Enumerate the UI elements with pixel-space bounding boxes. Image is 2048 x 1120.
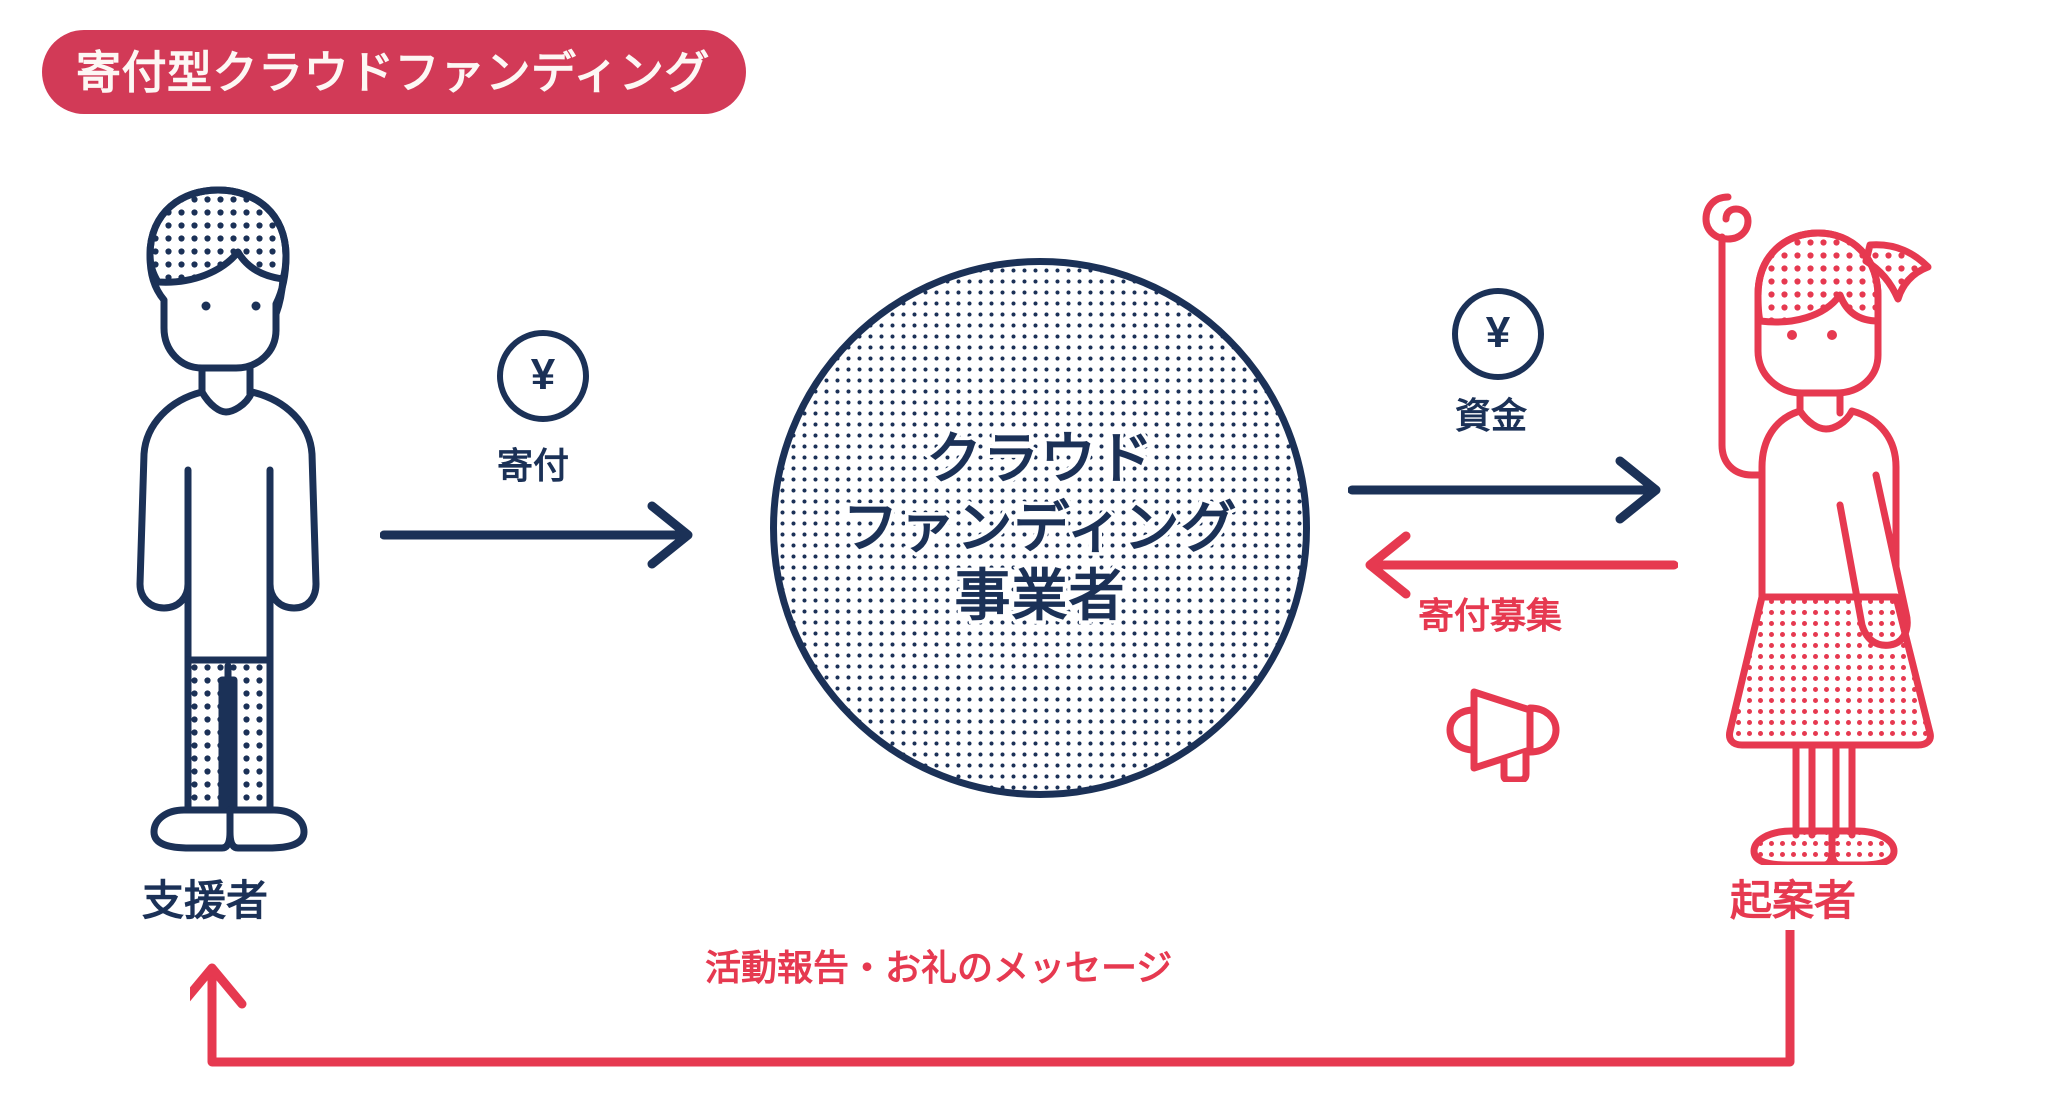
supporter-figure-icon (110, 180, 330, 860)
yen-coin-icon-donation: ¥ (497, 330, 589, 422)
hub-line-3: 事業者 (955, 564, 1126, 629)
title-text: 寄付型クラウドファンディング (76, 50, 710, 95)
recruit-flow-label: 寄付募集 (1418, 598, 1562, 634)
yen-glyph: ¥ (1486, 311, 1510, 355)
title-badge: 寄付型クラウドファンディング (42, 30, 746, 114)
donation-arrow-icon (380, 500, 710, 570)
crowdfunding-hub: クラウド ファンディング 事業者 (770, 258, 1310, 798)
hub-text-block: クラウド ファンディング 事業者 (770, 258, 1310, 798)
hub-line-1: クラウド (926, 427, 1154, 492)
diagram-canvas: 寄付型クラウドファンディング (0, 0, 2048, 1120)
megaphone-icon (1438, 672, 1568, 782)
hub-line-2: ファンディング (842, 496, 1237, 561)
proposer-figure-icon (1700, 145, 1950, 865)
funds-flow-label: 資金 (1455, 398, 1527, 434)
donation-flow-label: 寄付 (497, 448, 569, 484)
recruit-arrow-icon (1348, 530, 1678, 600)
report-flow-label: 活動報告・お礼のメッセージ (705, 950, 1172, 986)
supporter-label: 支援者 (142, 880, 268, 922)
funds-arrow-icon (1348, 455, 1678, 525)
yen-glyph: ¥ (531, 353, 555, 397)
proposer-label: 起案者 (1730, 880, 1856, 922)
yen-coin-icon-funds: ¥ (1452, 288, 1544, 380)
